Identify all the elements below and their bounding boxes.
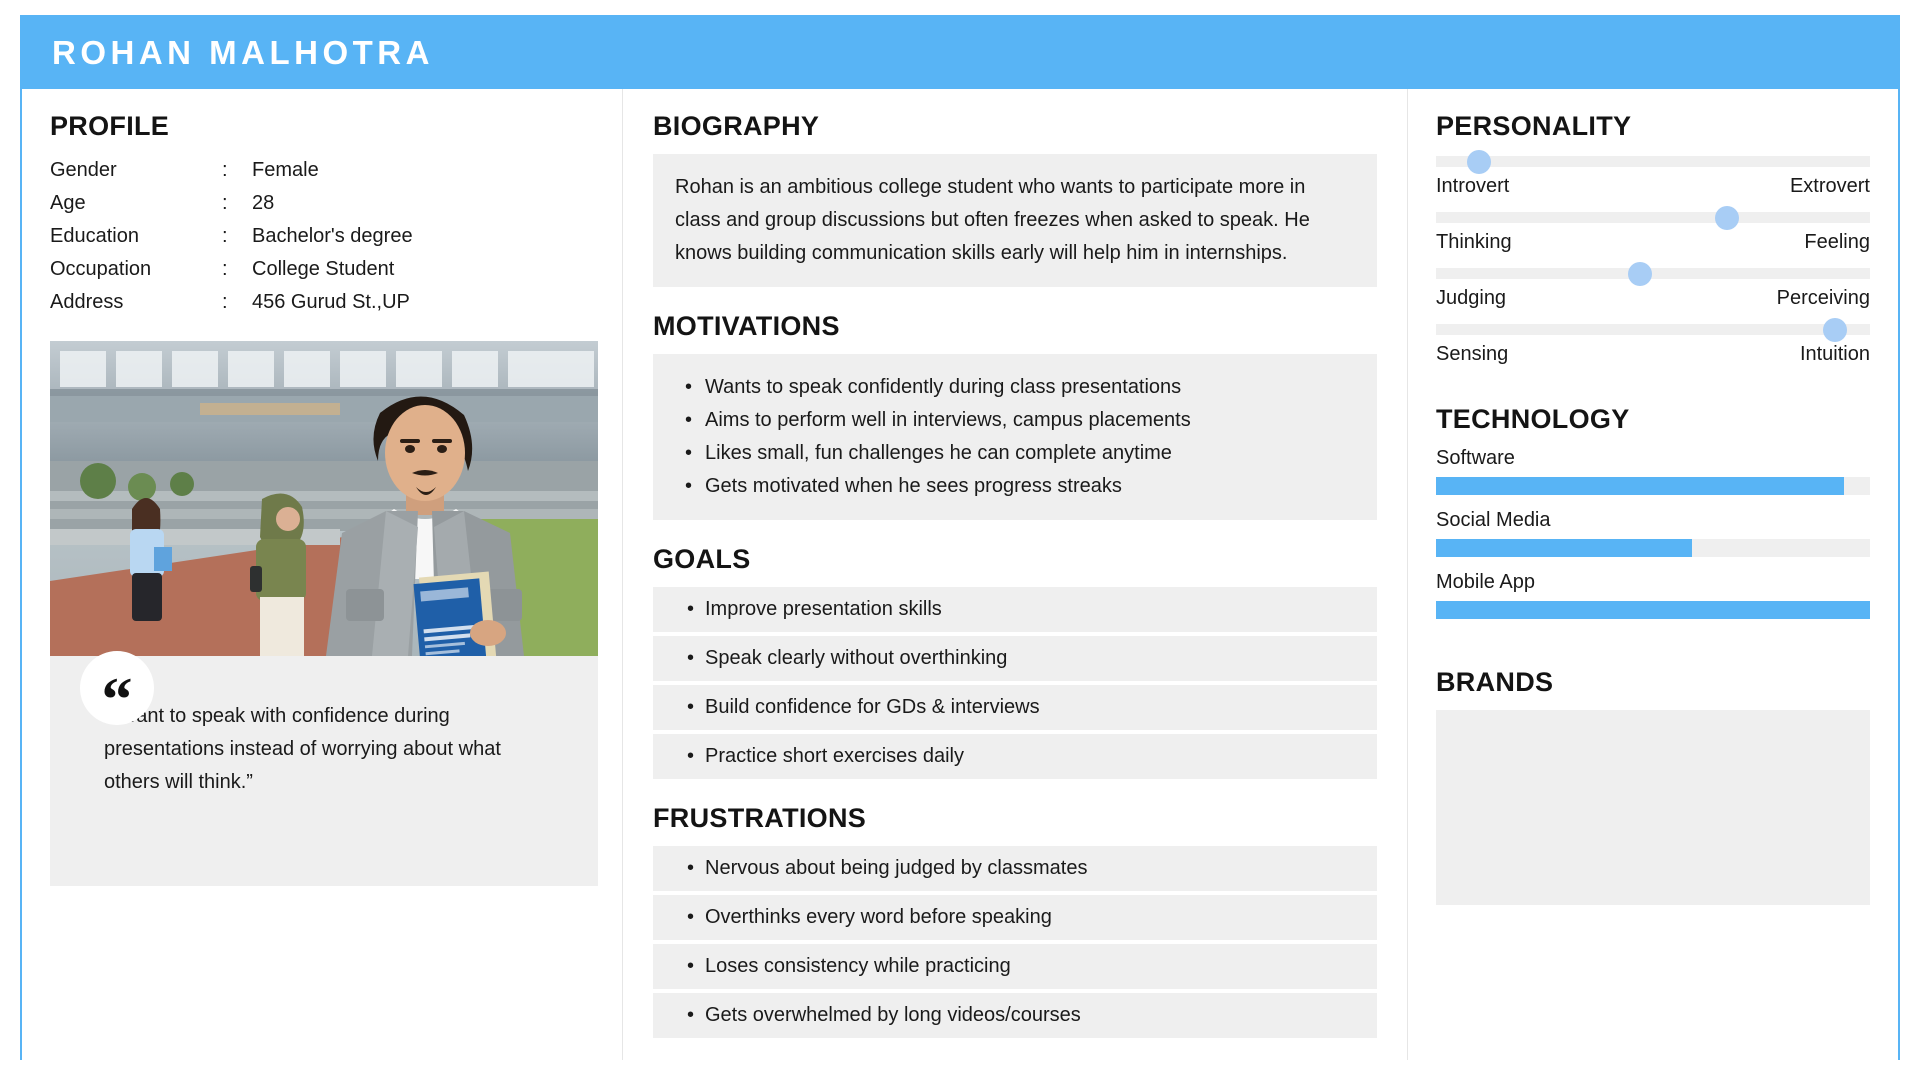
motivations-list: Wants to speak confidently during class … bbox=[675, 371, 1355, 503]
slider-label-left: Introvert bbox=[1436, 175, 1509, 198]
list-item: Practice short exercises daily bbox=[653, 734, 1377, 779]
technology-label: Software bbox=[1436, 447, 1870, 470]
slider-label-right: Extrovert bbox=[1790, 175, 1870, 198]
profile-label: Age bbox=[50, 187, 222, 220]
personality-slider[interactable]: Sensing Intuition bbox=[1436, 324, 1870, 366]
profile-table: Gender : Female Age : 28 Education : Bac… bbox=[50, 154, 594, 319]
personality-slider[interactable]: Judging Perceiving bbox=[1436, 268, 1870, 310]
frustrations-heading: FRUSTRATIONS bbox=[653, 803, 1377, 834]
slider-track[interactable] bbox=[1436, 324, 1870, 335]
list-item: Loses consistency while practicing bbox=[653, 944, 1377, 989]
left-column: PROFILE Gender : Female Age : 28 Educati… bbox=[22, 89, 622, 1060]
list-item: Build confidence for GDs & interviews bbox=[653, 685, 1377, 730]
profile-separator: : bbox=[222, 253, 252, 286]
profile-row: Age : 28 bbox=[50, 187, 594, 220]
slider-label-left: Thinking bbox=[1436, 231, 1512, 254]
list-item: Improve presentation skills bbox=[653, 587, 1377, 632]
technology-fill bbox=[1436, 601, 1870, 619]
profile-row: Education : Bachelor's degree bbox=[50, 220, 594, 253]
technology-item: Social Media bbox=[1436, 509, 1870, 557]
profile-value: College Student bbox=[252, 253, 594, 286]
slider-label-left: Judging bbox=[1436, 287, 1506, 310]
list-item: Aims to perform well in interviews, camp… bbox=[675, 404, 1355, 437]
persona-photo bbox=[50, 341, 598, 656]
brands-heading: BRANDS bbox=[1436, 667, 1870, 698]
slider-label-right: Perceiving bbox=[1777, 287, 1870, 310]
brands-placeholder bbox=[1436, 710, 1870, 905]
profile-label: Address bbox=[50, 286, 222, 319]
slider-knob[interactable] bbox=[1467, 150, 1491, 174]
profile-value: 28 bbox=[252, 187, 594, 220]
quote-text: “I want to speak with confidence during … bbox=[104, 700, 554, 799]
biography-heading: BIOGRAPHY bbox=[653, 111, 1377, 142]
profile-heading: PROFILE bbox=[50, 111, 594, 142]
personality-slider[interactable]: Introvert Extrovert bbox=[1436, 156, 1870, 198]
profile-separator: : bbox=[222, 286, 252, 319]
profile-label: Gender bbox=[50, 154, 222, 187]
middle-column: BIOGRAPHY Rohan is an ambitious college … bbox=[622, 89, 1408, 1060]
frustrations-list: Nervous about being judged by classmates… bbox=[653, 846, 1377, 1038]
goals-heading: GOALS bbox=[653, 544, 1377, 575]
slider-knob[interactable] bbox=[1823, 318, 1847, 342]
list-item: Wants to speak confidently during class … bbox=[675, 371, 1355, 404]
slider-label-right: Feeling bbox=[1804, 231, 1870, 254]
technology-fill bbox=[1436, 477, 1844, 495]
list-item: Speak clearly without overthinking bbox=[653, 636, 1377, 681]
persona-card: ROHAN MALHOTRA PROFILE Gender : Female A… bbox=[20, 15, 1900, 1060]
slider-track[interactable] bbox=[1436, 212, 1870, 223]
persona-body: PROFILE Gender : Female Age : 28 Educati… bbox=[22, 89, 1898, 1060]
quote-mark-icon: “ bbox=[80, 651, 154, 725]
technology-heading: TECHNOLOGY bbox=[1436, 404, 1870, 435]
profile-row: Occupation : College Student bbox=[50, 253, 594, 286]
list-item: Overthinks every word before speaking bbox=[653, 895, 1377, 940]
profile-row: Address : 456 Gurud St.,UP bbox=[50, 286, 594, 319]
quote-glyph: “ bbox=[102, 669, 133, 731]
profile-value: Female bbox=[252, 154, 594, 187]
profile-label: Occupation bbox=[50, 253, 222, 286]
list-item: Gets motivated when he sees progress str… bbox=[675, 470, 1355, 503]
technology-track bbox=[1436, 477, 1870, 495]
technology-track bbox=[1436, 601, 1870, 619]
biography-text: Rohan is an ambitious college student wh… bbox=[675, 171, 1355, 270]
slider-track[interactable] bbox=[1436, 268, 1870, 279]
technology-label: Social Media bbox=[1436, 509, 1870, 532]
personality-heading: PERSONALITY bbox=[1436, 111, 1870, 142]
personality-slider[interactable]: Thinking Feeling bbox=[1436, 212, 1870, 254]
technology-fill bbox=[1436, 539, 1692, 557]
slider-label-left: Sensing bbox=[1436, 343, 1508, 366]
list-item: Nervous about being judged by classmates bbox=[653, 846, 1377, 891]
technology-item: Mobile App bbox=[1436, 571, 1870, 619]
goals-list: Improve presentation skills Speak clearl… bbox=[653, 587, 1377, 779]
profile-label: Education bbox=[50, 220, 222, 253]
motivations-block: Wants to speak confidently during class … bbox=[653, 354, 1377, 520]
technology-track bbox=[1436, 539, 1870, 557]
list-item: Gets overwhelmed by long videos/courses bbox=[653, 993, 1377, 1038]
profile-row: Gender : Female bbox=[50, 154, 594, 187]
technology-label: Mobile App bbox=[1436, 571, 1870, 594]
profile-value: 456 Gurud St.,UP bbox=[252, 286, 594, 319]
profile-separator: : bbox=[222, 154, 252, 187]
slider-track[interactable] bbox=[1436, 156, 1870, 167]
biography-block: Rohan is an ambitious college student wh… bbox=[653, 154, 1377, 287]
profile-separator: : bbox=[222, 220, 252, 253]
slider-label-right: Intuition bbox=[1800, 343, 1870, 366]
persona-name: ROHAN MALHOTRA bbox=[52, 34, 434, 72]
slider-knob[interactable] bbox=[1715, 206, 1739, 230]
slider-knob[interactable] bbox=[1628, 262, 1652, 286]
profile-separator: : bbox=[222, 187, 252, 220]
right-column: PERSONALITY Introvert Extrovert Thinking… bbox=[1408, 89, 1898, 1060]
technology-item: Software bbox=[1436, 447, 1870, 495]
profile-value: Bachelor's degree bbox=[252, 220, 594, 253]
motivations-heading: MOTIVATIONS bbox=[653, 311, 1377, 342]
list-item: Likes small, fun challenges he can compl… bbox=[675, 437, 1355, 470]
persona-header: ROHAN MALHOTRA bbox=[22, 17, 1898, 89]
